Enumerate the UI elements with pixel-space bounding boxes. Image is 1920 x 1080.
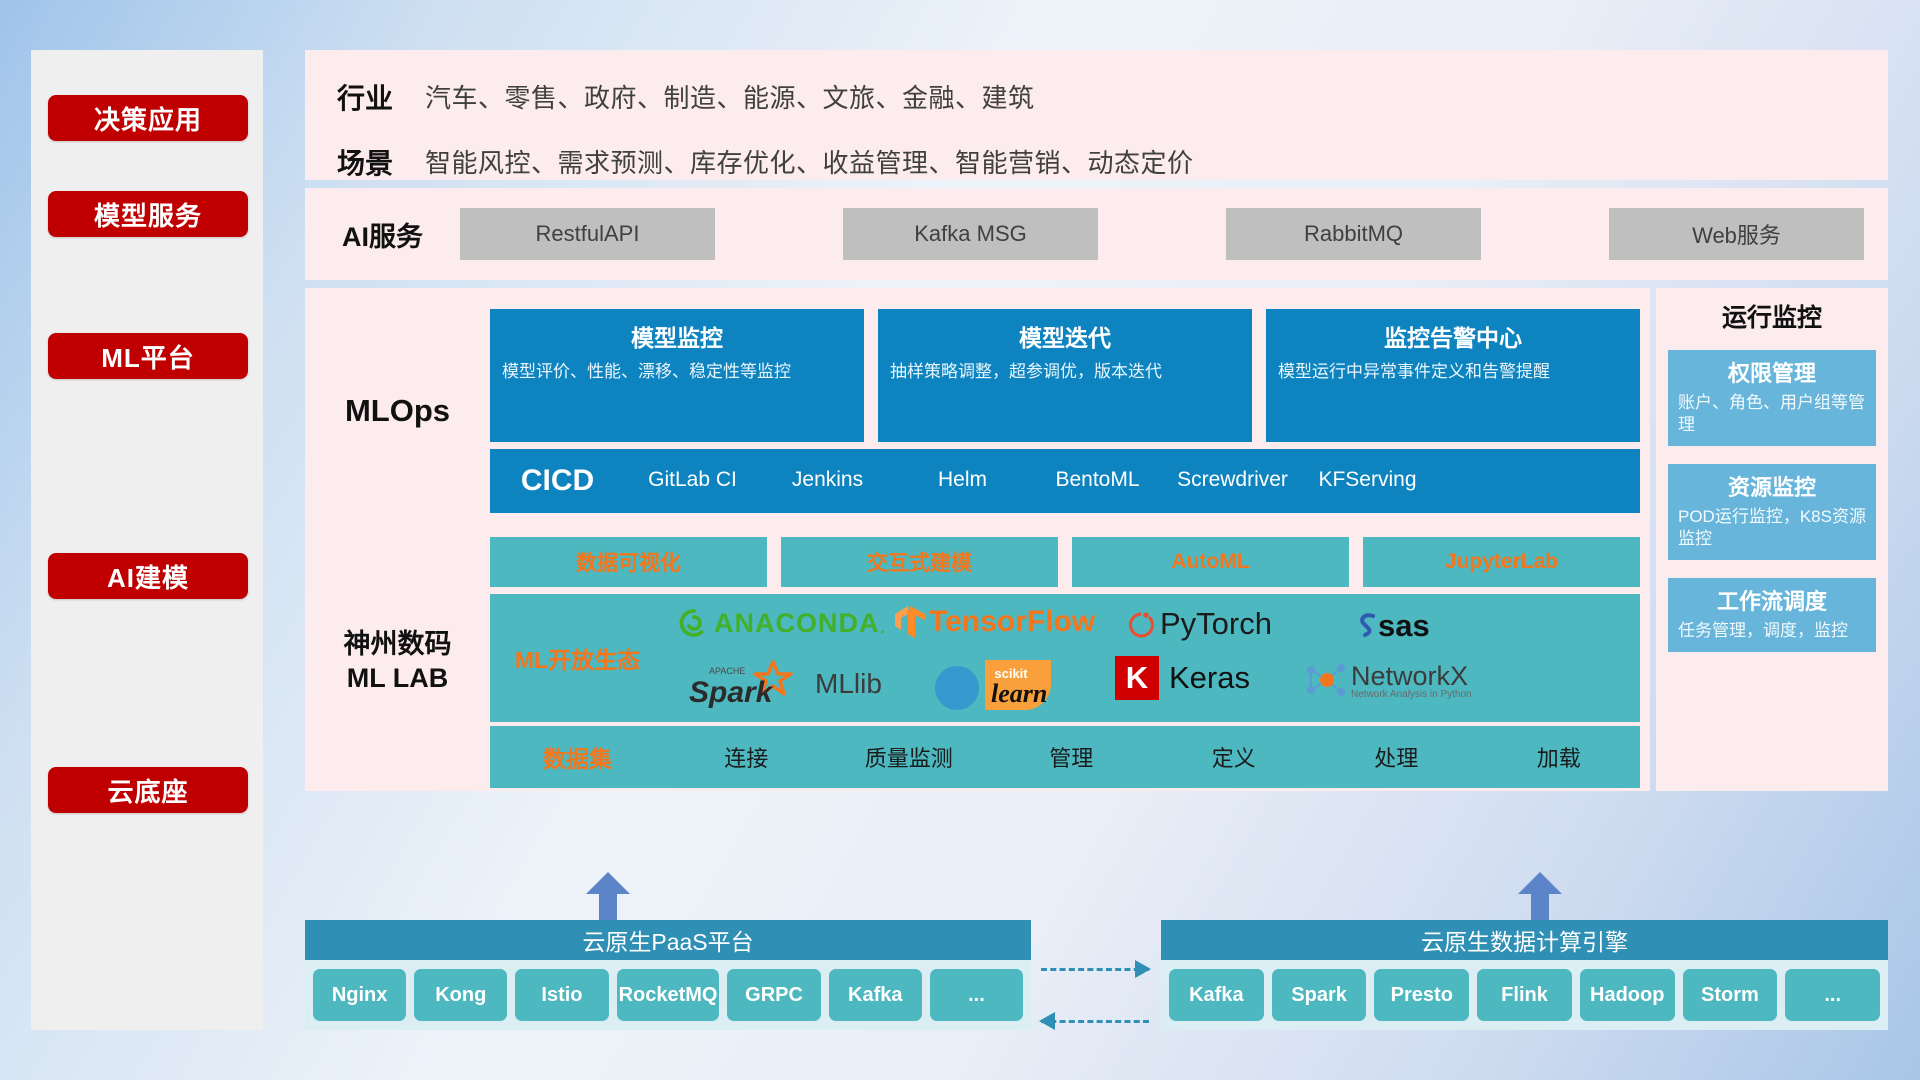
industry-row: 行业 汽车、零售、政府、制造、能源、文旅、金融、建筑 [305, 50, 1888, 129]
mlops-key: MLOps [305, 393, 490, 429]
paas-group: 云原生PaaS平台 Nginx Kong Istio RocketMQ GRPC… [305, 920, 1031, 1030]
sas-wordmark: sas [1378, 608, 1430, 644]
ai-service-chip-kafka-msg[interactable]: Kafka MSG [843, 208, 1098, 260]
keras-wordmark: Keras [1169, 660, 1250, 696]
ml-lab-tab-group: 数据可视化 交互式建模 AutoML JupyterLab [490, 537, 1640, 587]
pytorch-logo: PyTorch [1127, 606, 1272, 642]
card-title: 资源监控 [1678, 470, 1866, 502]
data-engine-chip-group: Kafka Spark Presto Flink Hadoop Storm ..… [1161, 960, 1888, 1030]
tensorflow-wordmark: TensorFlow [929, 605, 1095, 639]
mlops-card-model-iteration[interactable]: 模型迭代 抽样策略调整，超参调优，版本迭代 [878, 309, 1252, 442]
paas-chip-nginx[interactable]: Nginx [313, 969, 406, 1021]
tab-automl[interactable]: AutoML [1072, 537, 1349, 587]
svg-text:APACHE: APACHE [709, 666, 745, 676]
cicd-item-kfserving[interactable]: KFServing [1300, 467, 1435, 493]
dash-arrow-right-icon [1041, 968, 1149, 970]
card-title: 模型监控 [502, 319, 852, 353]
scikit-learn-logo: scikit learn [933, 656, 1083, 712]
tensorflow-logo: TensorFlow [893, 604, 1095, 640]
card-desc: 任务管理，调度，监控 [1678, 620, 1866, 642]
cloud-base-section: 云原生PaaS平台 Nginx Kong Istio RocketMQ GRPC… [305, 872, 1888, 1030]
platform-section: MLOps 模型监控 模型评价、性能、漂移、稳定性等监控 模型迭代 抽样策略调整… [305, 288, 1888, 791]
card-title: 工作流调度 [1678, 584, 1866, 616]
paas-chip-istio[interactable]: Istio [515, 969, 608, 1021]
ml-lab-band: 神州数码 ML LAB 数据可视化 交互式建模 AutoML JupyterLa… [305, 533, 1650, 791]
chip-label: RabbitMQ [1304, 221, 1403, 247]
rail-item-decision-apps[interactable]: 决策应用 [48, 95, 248, 141]
keras-logo: K Keras [1115, 656, 1250, 700]
dataset-item-manage[interactable]: 管理 [990, 741, 1153, 773]
data-engine-group: 云原生数据计算引擎 Kafka Spark Presto Flink Hadoo… [1161, 920, 1888, 1030]
engine-chip-kafka[interactable]: Kafka [1169, 969, 1264, 1021]
mlops-band: MLOps 模型监控 模型评价、性能、漂移、稳定性等监控 模型迭代 抽样策略调整… [305, 288, 1650, 533]
rail-item-label: 云底座 [107, 772, 188, 809]
engine-chip-spark[interactable]: Spark [1272, 969, 1367, 1021]
card-title: 模型迭代 [890, 319, 1240, 353]
rail-item-label: AI建模 [107, 558, 189, 595]
runtime-monitoring-panel: 运行监控 权限管理 账户、角色、用户组等管理 资源监控 POD运行监控，K8S资… [1656, 288, 1888, 791]
dataset-row: 数据集 连接 质量监测 管理 定义 处理 加载 [490, 726, 1640, 788]
svg-text:learn: learn [991, 679, 1047, 708]
runtime-monitoring-title: 运行监控 [1668, 298, 1876, 334]
ai-service-band: AI服务 RestfulAPI Kafka MSG RabbitMQ Web服务 [305, 188, 1888, 280]
ml-open-ecosystem-row: ML开放生态 ANACONDA . [490, 594, 1640, 722]
card-desc: POD运行监控，K8S资源监控 [1678, 506, 1866, 550]
cicd-item-helm[interactable]: Helm [895, 467, 1030, 493]
spark-mllib-logo: APACHE Spark MLlib [687, 660, 882, 708]
ai-service-chip-group: RestfulAPI Kafka MSG RabbitMQ Web服务 [460, 208, 1888, 260]
data-engine-title: 云原生数据计算引擎 [1161, 920, 1888, 960]
tensorflow-mark [893, 604, 927, 640]
engine-chip-flink[interactable]: Flink [1477, 969, 1572, 1021]
monitor-card-permission[interactable]: 权限管理 账户、角色、用户组等管理 [1668, 350, 1876, 446]
pytorch-wordmark: PyTorch [1160, 606, 1272, 642]
sas-logo: sas [1353, 608, 1430, 644]
chip-label: Web服务 [1692, 218, 1781, 250]
rail-item-model-service[interactable]: 模型服务 [48, 191, 248, 237]
scenario-key: 场景 [305, 142, 425, 182]
card-desc: 模型运行中异常事件定义和告警提醒 [1278, 361, 1628, 384]
chip-label: Kafka MSG [914, 221, 1026, 247]
dash-arrow-left-icon [1041, 1020, 1149, 1022]
scikit-learn-mark: scikit learn [933, 656, 1083, 712]
ai-service-key: AI服务 [305, 215, 460, 254]
tab-jupyterlab[interactable]: JupyterLab [1363, 537, 1640, 587]
ai-service-chip-rabbitmq[interactable]: RabbitMQ [1226, 208, 1481, 260]
networkx-logo: NetworkX Network Analysis in Python [1303, 660, 1472, 702]
cicd-bar: CICD GitLab CI Jenkins Helm BentoML Scre… [490, 449, 1640, 513]
ml-open-ecosystem-label: ML开放生态 [490, 641, 665, 675]
paas-chip-kong[interactable]: Kong [414, 969, 507, 1021]
rail-item-ml-platform[interactable]: ML平台 [48, 333, 248, 379]
cicd-item-gitlab-ci[interactable]: GitLab CI [625, 467, 760, 493]
keras-k: K [1126, 660, 1148, 696]
card-desc: 抽样策略调整，超参调优，版本迭代 [890, 361, 1240, 384]
engine-chip-presto[interactable]: Presto [1374, 969, 1469, 1021]
engine-up-arrow-icon [1518, 872, 1562, 920]
cicd-item-bentoml[interactable]: BentoML [1030, 467, 1165, 493]
dataset-item-connect[interactable]: 连接 [665, 741, 828, 773]
dataset-label: 数据集 [490, 740, 665, 774]
dataset-item-process[interactable]: 处理 [1315, 741, 1478, 773]
paas-chip-grpc[interactable]: GRPC [727, 969, 820, 1021]
industry-value: 汽车、零售、政府、制造、能源、文旅、金融、建筑 [425, 78, 1035, 115]
dataset-item-load[interactable]: 加载 [1478, 741, 1641, 773]
ml-lab-key-line1: 神州数码 [305, 628, 490, 662]
networkx-wordmark: NetworkX [1351, 661, 1472, 692]
scenario-row: 场景 智能风控、需求预测、库存优化、收益管理、智能营销、动态定价 [305, 129, 1888, 194]
dataset-item-define[interactable]: 定义 [1153, 741, 1316, 773]
anaconda-logo: ANACONDA . [679, 608, 886, 639]
mllib-wordmark: MLlib [815, 668, 882, 700]
pytorch-mark [1127, 608, 1155, 640]
scenario-value: 智能风控、需求预测、库存优化、收益管理、智能营销、动态定价 [425, 143, 1194, 180]
spark-mark: APACHE Spark [687, 660, 811, 708]
networkx-tagline: Network Analysis in Python [1351, 689, 1472, 700]
mlops-card-model-monitoring[interactable]: 模型监控 模型评价、性能、漂移、稳定性等监控 [490, 309, 864, 442]
paas-up-arrow-icon [586, 872, 630, 920]
mlops-card-alert-center[interactable]: 监控告警中心 模型运行中异常事件定义和告警提醒 [1266, 309, 1640, 442]
cicd-item-jenkins[interactable]: Jenkins [760, 467, 895, 493]
ai-service-chip-restfulapi[interactable]: RestfulAPI [460, 208, 715, 260]
cicd-item-screwdriver[interactable]: Screwdriver [1165, 467, 1300, 493]
anaconda-mark [679, 608, 709, 638]
ml-lab-key: 神州数码 ML LAB [305, 628, 490, 696]
ai-service-chip-web-service[interactable]: Web服务 [1609, 208, 1864, 260]
engine-chip-hadoop[interactable]: Hadoop [1580, 969, 1675, 1021]
networkx-mark [1303, 660, 1347, 702]
anaconda-dot: . [880, 613, 886, 639]
engine-chip-more[interactable]: ... [1785, 969, 1880, 1021]
monitor-card-workflow[interactable]: 工作流调度 任务管理，调度，监控 [1668, 578, 1876, 652]
anaconda-wordmark: ANACONDA [714, 608, 880, 639]
stage-rail: 决策应用 模型服务 ML平台 AI建模 云底座 [31, 50, 263, 1030]
svg-text:Spark: Spark [689, 676, 774, 708]
paas-chip-more[interactable]: ... [930, 969, 1023, 1021]
paas-chip-kafka[interactable]: Kafka [829, 969, 922, 1021]
rail-item-label: 模型服务 [94, 196, 202, 233]
rail-item-label: ML平台 [101, 338, 195, 375]
paas-title: 云原生PaaS平台 [305, 920, 1031, 960]
keras-mark: K [1115, 656, 1159, 700]
cicd-title: CICD [490, 464, 625, 498]
paas-chip-group: Nginx Kong Istio RocketMQ GRPC Kafka ... [305, 960, 1031, 1030]
ml-lab-key-line2: ML LAB [305, 662, 490, 696]
decision-applications-band: 行业 汽车、零售、政府、制造、能源、文旅、金融、建筑 场景 智能风控、需求预测、… [305, 50, 1888, 180]
monitor-card-resource[interactable]: 资源监控 POD运行监控，K8S资源监控 [1668, 464, 1876, 560]
paas-chip-rocketmq[interactable]: RocketMQ [617, 969, 720, 1021]
chip-label: RestfulAPI [536, 221, 640, 247]
tab-data-visualization[interactable]: 数据可视化 [490, 537, 767, 587]
sas-mark [1353, 611, 1379, 641]
tab-interactive-modeling[interactable]: 交互式建模 [781, 537, 1058, 587]
mlops-card-group: 模型监控 模型评价、性能、漂移、稳定性等监控 模型迭代 抽样策略调整，超参调优，… [490, 309, 1640, 442]
card-title: 权限管理 [1678, 356, 1866, 388]
dataset-item-quality-monitoring[interactable]: 质量监测 [828, 741, 991, 773]
card-desc: 账户、角色、用户组等管理 [1678, 392, 1866, 436]
industry-key: 行业 [305, 77, 425, 117]
rail-item-cloud-base[interactable]: 云底座 [48, 767, 248, 813]
engine-chip-storm[interactable]: Storm [1683, 969, 1778, 1021]
rail-item-ai-modeling[interactable]: AI建模 [48, 553, 248, 599]
logo-wall: ANACONDA . TensorFlow [665, 594, 1640, 722]
card-desc: 模型评价、性能、漂移、稳定性等监控 [502, 361, 852, 384]
rail-item-label: 决策应用 [94, 100, 202, 137]
card-title: 监控告警中心 [1278, 319, 1628, 353]
